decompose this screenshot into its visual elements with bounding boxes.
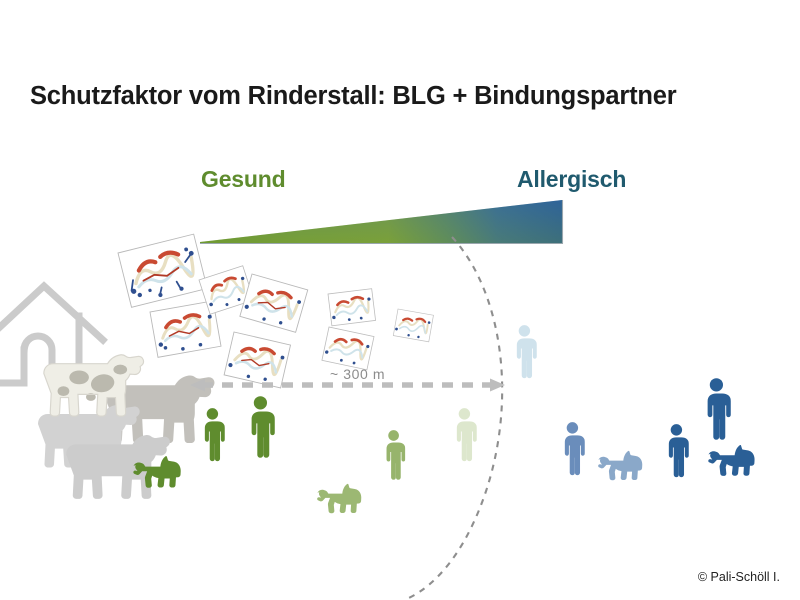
label-allergisch: Allergisch [517, 166, 626, 193]
dog-icon [708, 445, 754, 476]
blg-card [328, 289, 376, 326]
person-icon [565, 422, 585, 475]
blg-card [224, 332, 290, 388]
blg-card [393, 309, 433, 342]
person-icon [669, 424, 689, 477]
blg-molecule-cards [118, 234, 433, 388]
gradient-wedge [200, 200, 563, 244]
person-icon [205, 408, 225, 461]
allergic-people-group [517, 325, 755, 480]
blg-card [322, 327, 374, 370]
blg-card [240, 274, 308, 332]
person-icon [708, 378, 731, 440]
distance-label: ~ 300 m [330, 366, 385, 382]
slide-canvas: Schutzfaktor vom Rinderstall: BLG + Bind… [0, 0, 800, 600]
person-icon [252, 396, 275, 458]
dog-icon [598, 451, 642, 480]
person-icon [517, 325, 537, 378]
page-title: Schutzfaktor vom Rinderstall: BLG + Bind… [30, 82, 770, 111]
arrow-head-right [490, 379, 505, 392]
person-icon [457, 408, 477, 461]
radius-arc [404, 237, 502, 600]
credit-text: © Pali-Schöll I. [620, 570, 780, 584]
dog-icon [317, 484, 361, 513]
blg-card [118, 234, 207, 307]
person-icon [387, 430, 406, 480]
label-gesund: Gesund [201, 166, 285, 193]
